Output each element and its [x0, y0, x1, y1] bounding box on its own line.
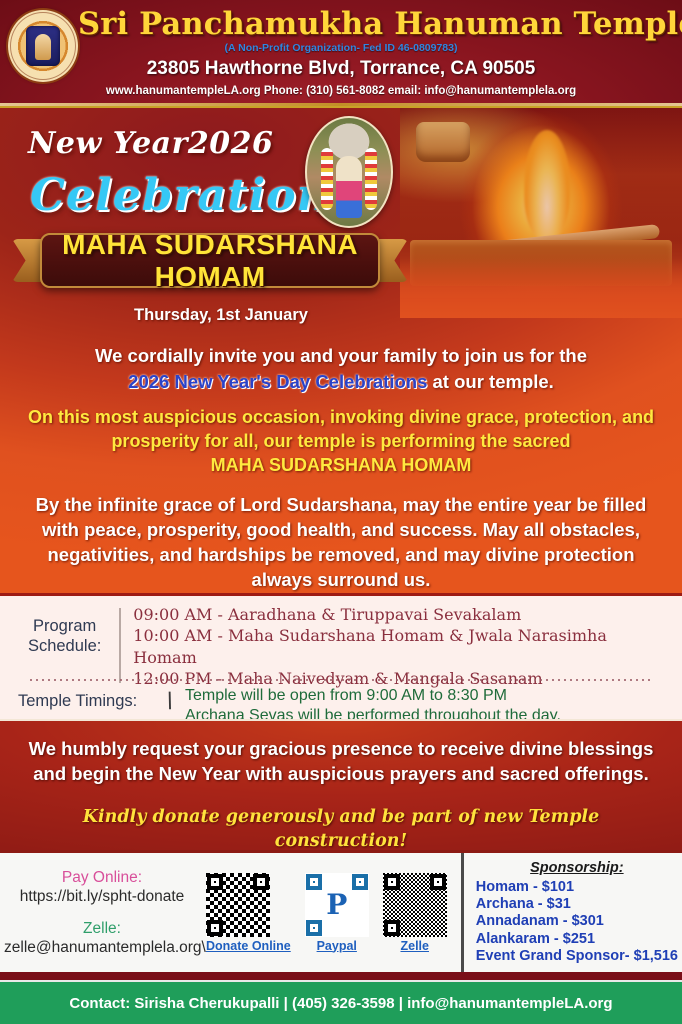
invite-highlight: 2026 New Year's Day Celebrations: [128, 371, 427, 392]
schedule-label-line1: Program: [33, 617, 96, 635]
flyer-header: Sri Panchamukha Hanuman Temple (A Non-Pr…: [0, 0, 682, 108]
event-date: Thursday, 1st January: [0, 306, 682, 325]
sponsorship-item: Alankaram - $251: [476, 931, 678, 948]
event-banner-text: MAHA SUDARSHANA HOMAM: [12, 229, 408, 293]
auspicious-event-name: MAHA SUDARSHANA HOMAM: [211, 455, 472, 475]
qr-donate-online[interactable]: Donate Online: [206, 873, 291, 953]
schedule-item: 09:00 AM - Aaradhana & Tiruppavai Sevaka…: [133, 604, 672, 625]
dotted-separator: [28, 679, 654, 681]
event-banner: MAHA SUDARSHANA HOMAM: [12, 233, 408, 288]
zelle-qr-code-icon[interactable]: [383, 873, 447, 937]
sponsorship-item: Annadanam - $301: [476, 913, 678, 930]
qr-code-group: Donate Online P Paypal Zelle: [206, 873, 447, 953]
request-text: We humbly request your gracious presence…: [18, 737, 664, 787]
invite-part2: at our temple.: [433, 371, 554, 392]
program-schedule-label: Program Schedule:: [10, 604, 119, 689]
timing-line: Temple will be open from 9:00 AM to 8:30…: [185, 686, 561, 706]
invite-part1: We cordially invite you and your family …: [95, 345, 587, 366]
schedule-label-line2: Schedule:: [28, 637, 101, 655]
new-year-title: New Year2026: [28, 126, 273, 161]
schedule-item: 10:00 AM - Maha Sudarshana Homam & Jwala…: [133, 625, 672, 668]
flyer-footer: Contact: Sirisha Cherukupalli | (405) 32…: [0, 980, 682, 1024]
temple-contact-line: www.hanumantempleLA.org Phone: (310) 561…: [0, 85, 682, 97]
pay-online-label: Pay Online:: [4, 869, 200, 887]
blessing-text: By the infinite grace of Lord Sudarshana…: [26, 492, 656, 593]
paypal-logo-icon: P: [324, 891, 349, 919]
qr-code-icon[interactable]: [206, 873, 270, 937]
qr-label-paypal[interactable]: Paypal: [305, 939, 369, 953]
nonprofit-line: (A Non-Profit Organization- Fed ID 46-08…: [0, 42, 682, 54]
paypal-qr-code-icon[interactable]: P: [305, 873, 369, 937]
temple-name: Sri Panchamukha Hanuman Temple: [78, 6, 676, 42]
qr-paypal[interactable]: P Paypal: [305, 873, 369, 953]
invitation-text: We cordially invite you and your family …: [34, 343, 648, 394]
schedule-divider: [119, 608, 121, 683]
request-section: We humbly request your gracious presence…: [0, 719, 682, 850]
temple-address: 23805 Hawthorne Blvd, Torrance, CA 90505: [0, 58, 682, 80]
schedule-item-list: 09:00 AM - Aaradhana & Tiruppavai Sevaka…: [133, 604, 672, 689]
auspicious-body: On this most auspicious occasion, invoki…: [28, 407, 654, 451]
sponsorship-block: Sponsorship: Homam - $101 Archana - $31 …: [461, 853, 678, 972]
sponsorship-item: Archana - $31: [476, 896, 678, 913]
footer-contact-text: Contact: Sirisha Cherukupalli | (405) 32…: [69, 995, 612, 1012]
temple-event-flyer: Sri Panchamukha Hanuman Temple (A Non-Pr…: [0, 0, 682, 1024]
payment-panel: Pay Online: https://bit.ly/spht-donate Z…: [0, 850, 682, 972]
qr-zelle[interactable]: Zelle: [383, 873, 447, 953]
sponsorship-item: Event Grand Sponsor- $1,516: [476, 948, 678, 965]
donate-appeal: Kindly donate generously and be part of …: [18, 805, 664, 853]
payment-details: Pay Online: https://bit.ly/spht-donate Z…: [0, 869, 200, 957]
auspicious-text: On this most auspicious occasion, invoki…: [22, 405, 660, 477]
zelle-label: Zelle:: [4, 920, 200, 938]
pay-online-url[interactable]: https://bit.ly/spht-donate: [4, 888, 200, 906]
deity-photo-icon: [305, 116, 393, 228]
qr-label-zelle[interactable]: Zelle: [383, 939, 447, 953]
sponsorship-title: Sponsorship:: [476, 860, 678, 876]
hero-section: New Year2026 Celebrations MAHA SUDARSHAN…: [0, 108, 682, 593]
sponsorship-item: Homam - $101: [476, 879, 678, 896]
qr-label-donate-online[interactable]: Donate Online: [206, 939, 291, 953]
zelle-email[interactable]: zelle@hanumantemplela.org\: [4, 939, 200, 957]
program-schedule-panel: Program Schedule: 09:00 AM - Aaradhana &…: [0, 593, 682, 719]
